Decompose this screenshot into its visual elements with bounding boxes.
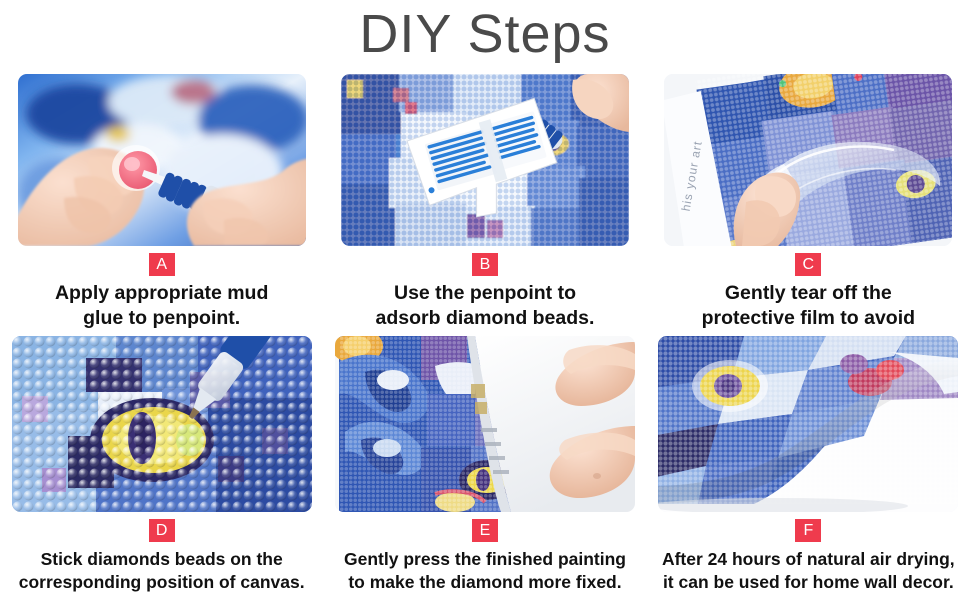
step-caption-f: After 24 hours of natural air drying, it… [647, 548, 970, 594]
step-card-e: E Gently press the finished painting to … [323, 336, 646, 600]
step-card-b: B Use the penpoint to adsorb diamond bea… [323, 74, 646, 336]
photo-peeling-protective-film: his your art [664, 74, 952, 246]
step-badge-f: F [795, 519, 821, 542]
step-caption-e: Gently press the finished painting to ma… [323, 548, 646, 594]
step-badge-d: D [149, 519, 175, 542]
step-badge-b: B [472, 253, 498, 276]
photo-rolled-finished-painting [658, 336, 958, 512]
photo-placing-bead-on-canvas [12, 336, 312, 512]
photo-pressing-finished-painting [335, 336, 635, 512]
step-card-f: F After 24 hours of natural air drying, … [647, 336, 970, 600]
photo-penpoint-absorbing-beads [341, 74, 629, 246]
step-badge-c: C [795, 253, 821, 276]
step-caption-c: Gently tear off the protective film to a… [647, 281, 970, 331]
steps-grid: A Apply appropriate mud glue to penpoint… [0, 74, 970, 600]
diy-steps-infographic: DIY Steps [0, 0, 970, 600]
page-title: DIY Steps [0, 0, 970, 70]
step-card-d: D Stick diamonds beads on the correspond… [0, 336, 323, 600]
step-caption-d: Stick diamonds beads on the correspondin… [0, 548, 323, 594]
step-badge-e: E [472, 519, 498, 542]
photo-glue-pot-and-pen [18, 74, 306, 246]
step-card-c: his your art [647, 74, 970, 336]
step-badge-a: A [149, 253, 175, 276]
step-caption-a: Apply appropriate mud glue to penpoint. [0, 281, 323, 331]
step-caption-b: Use the penpoint to adsorb diamond beads… [323, 281, 646, 331]
step-card-a: A Apply appropriate mud glue to penpoint… [0, 74, 323, 336]
